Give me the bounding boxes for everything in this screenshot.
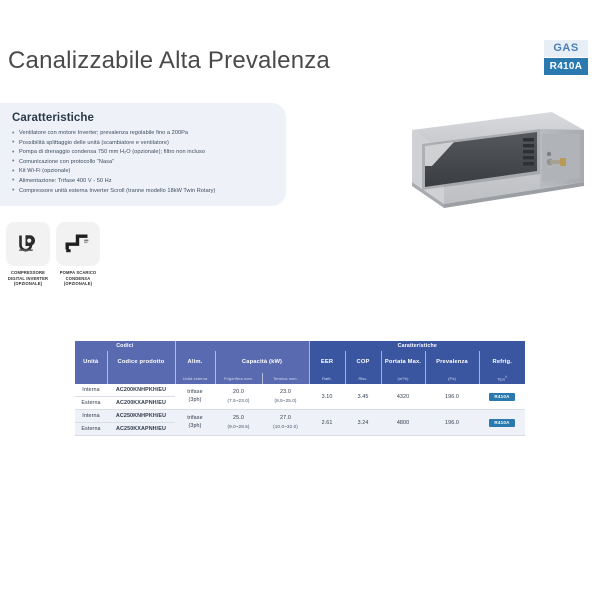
termica-value: 23.0: [262, 389, 309, 396]
frigorifera-value: 20.0: [215, 389, 262, 396]
cell-unita: Esterna: [75, 397, 107, 410]
product-image: [392, 108, 592, 220]
table-row: Interna AC200KNHPKH/EU trifase (3ph) 20.…: [75, 384, 525, 397]
caption-line: (OPZIONALE): [56, 281, 100, 287]
col-title-eer: EER: [309, 351, 345, 373]
features-panel: Caratteristiche Ventilatore con motore I…: [0, 103, 286, 206]
badge-tile: [6, 222, 50, 266]
cell-cop: 3.45: [345, 384, 381, 410]
frigorifera-value: 25.0: [215, 415, 262, 422]
col-title-codice-prodotto: Codice prodotto: [107, 351, 175, 373]
cell-cop: 3.24: [345, 410, 381, 436]
alim-value: trifase: [175, 415, 215, 422]
col-unit-prevalenza: (Pa): [425, 373, 479, 384]
page-title: Canalizzabile Alta Prevalenza: [8, 47, 330, 75]
cell-prevalenza: 196.0: [425, 410, 479, 436]
termica-range: (8.5~25.0): [262, 397, 309, 404]
badge-compressore-digital-inverter: COMPRESSORE DIGITAL INVERTER (OPZIONALE): [6, 222, 50, 287]
gas-badge: GAS R410A: [544, 40, 588, 75]
table-unit-row: Unità esterna Frigorifera nom. Termica n…: [75, 373, 525, 384]
cell-capacita-termica: 23.0 (8.5~25.0): [262, 384, 309, 410]
product-datasheet-page: Canalizzabile Alta Prevalenza GAS R410A …: [0, 0, 600, 600]
caption-line: POMPA SCARICO: [56, 270, 100, 276]
cell-unita: Interna: [75, 410, 107, 423]
col-unit-eer: Raffr.: [309, 373, 345, 384]
feature-item: Kit Wi-Fi (opzionale): [12, 167, 276, 177]
group-header-codici: Codici: [75, 341, 175, 351]
col-title-prevalenza: Prevalenza: [425, 351, 479, 373]
cell-portata-max: 4800: [381, 410, 425, 436]
cell-prevalenza: 196.0: [425, 384, 479, 410]
col-unit-termica: Termica nom.: [262, 373, 309, 384]
cell-portata-max: 4320: [381, 384, 425, 410]
col-unit-refrig: Tipo®: [479, 373, 525, 384]
badge-caption: COMPRESSORE DIGITAL INVERTER (OPZIONALE): [6, 270, 50, 287]
col-title-capacita: Capacità (kW): [215, 351, 309, 373]
feature-item: Alimentazione: Trifase 400 V - 50 Hz: [12, 177, 276, 187]
refrig-unit-text: Tipo: [497, 377, 505, 382]
cell-capacita-frigorifera: 20.0 (7.5~23.0): [215, 384, 262, 410]
cell-codice-prodotto: AC200KXAPNH/EU: [107, 397, 175, 410]
caption-line: COMPRESSORE: [6, 270, 50, 276]
table-row: Interna AC250KNHPKH/EU trifase (3ph) 25.…: [75, 410, 525, 423]
refrigerant-label: R410A: [544, 58, 588, 75]
option-icon-badges: COMPRESSORE DIGITAL INVERTER (OPZIONALE)…: [6, 222, 100, 287]
col-title-unita: Unità: [75, 351, 107, 373]
specification-table: Codici Caratteristiche Unità Codice prod…: [75, 341, 525, 436]
col-title-portata-max: Portata Max.: [381, 351, 425, 373]
features-heading: Caratteristiche: [12, 112, 276, 124]
feature-item: Possibilità splittaggio delle unità (sca…: [12, 139, 276, 149]
col-unit-codice: [107, 373, 175, 384]
badge-pompa-scarico-condensa: POMPA SCARICO CONDENSA (OPZIONALE): [56, 222, 100, 287]
condensate-drain-pump-icon: [64, 231, 92, 257]
cell-eer: 3.10: [309, 384, 345, 410]
col-title-cop: COP: [345, 351, 381, 373]
alim-sub: (3ph): [175, 397, 215, 404]
cell-refrig: R410A: [479, 384, 525, 410]
col-unit-cop: Risc.: [345, 373, 381, 384]
features-list: Ventilatore con motore Inverter; prevale…: [12, 129, 276, 196]
feature-item: Ventilatore con motore Inverter; prevale…: [12, 129, 276, 139]
frigorifera-range: (9.0~28.5): [215, 423, 262, 430]
col-unit-unita: [75, 373, 107, 384]
refrigerant-badge: R410A: [489, 393, 514, 401]
cell-capacita-termica: 27.0 (10.0~32.0): [262, 410, 309, 436]
group-header-spacer: [175, 341, 309, 351]
alim-sub: (3ph): [175, 423, 215, 430]
registered-mark: ®: [505, 375, 507, 379]
col-unit-frigorifera: Frigorifera nom.: [215, 373, 262, 384]
cell-codice-prodotto: AC200KNHPKH/EU: [107, 384, 175, 397]
feature-item: Pompa di drenaggio condensa 750 mm H₂O (…: [12, 148, 276, 158]
cell-unita: Interna: [75, 384, 107, 397]
table-group-header-row: Codici Caratteristiche: [75, 341, 525, 351]
group-header-caratteristiche: Caratteristiche: [309, 341, 525, 351]
col-title-refrig: Refrig.: [479, 351, 525, 373]
cell-refrig: R410A: [479, 410, 525, 436]
col-unit-portata: (m³/h): [381, 373, 425, 384]
termica-range: (10.0~32.0): [262, 423, 309, 430]
badge-tile: [56, 222, 100, 266]
cell-eer: 2.61: [309, 410, 345, 436]
cell-codice-prodotto: AC250KNHPKH/EU: [107, 410, 175, 423]
ducted-unit-illustration: [392, 108, 592, 220]
frigorifera-range: (7.5~23.0): [215, 397, 262, 404]
cell-capacita-frigorifera: 25.0 (9.0~28.5): [215, 410, 262, 436]
feature-item: Comunicazione con protocollo “Nasa”: [12, 158, 276, 168]
col-unit-alim: Unità esterna: [175, 373, 215, 384]
caption-line: (OPZIONALE): [6, 281, 50, 287]
cell-codice-prodotto: AC250KXAPNH/EU: [107, 423, 175, 436]
cell-unita: Esterna: [75, 423, 107, 436]
cell-alim: trifase (3ph): [175, 410, 215, 436]
col-title-alim: Alim.: [175, 351, 215, 373]
refrigerant-badge: R410A: [489, 419, 514, 427]
termica-value: 27.0: [262, 415, 309, 422]
table-column-title-row: Unità Codice prodotto Alim. Capacità (kW…: [75, 351, 525, 373]
gas-label: GAS: [544, 40, 588, 57]
alim-value: trifase: [175, 389, 215, 396]
feature-item: Compressore unità esterna Inverter Scrol…: [12, 187, 276, 197]
cell-alim: trifase (3ph): [175, 384, 215, 410]
badge-caption: POMPA SCARICO CONDENSA (OPZIONALE): [56, 270, 100, 287]
digital-inverter-compressor-icon: [15, 231, 41, 257]
